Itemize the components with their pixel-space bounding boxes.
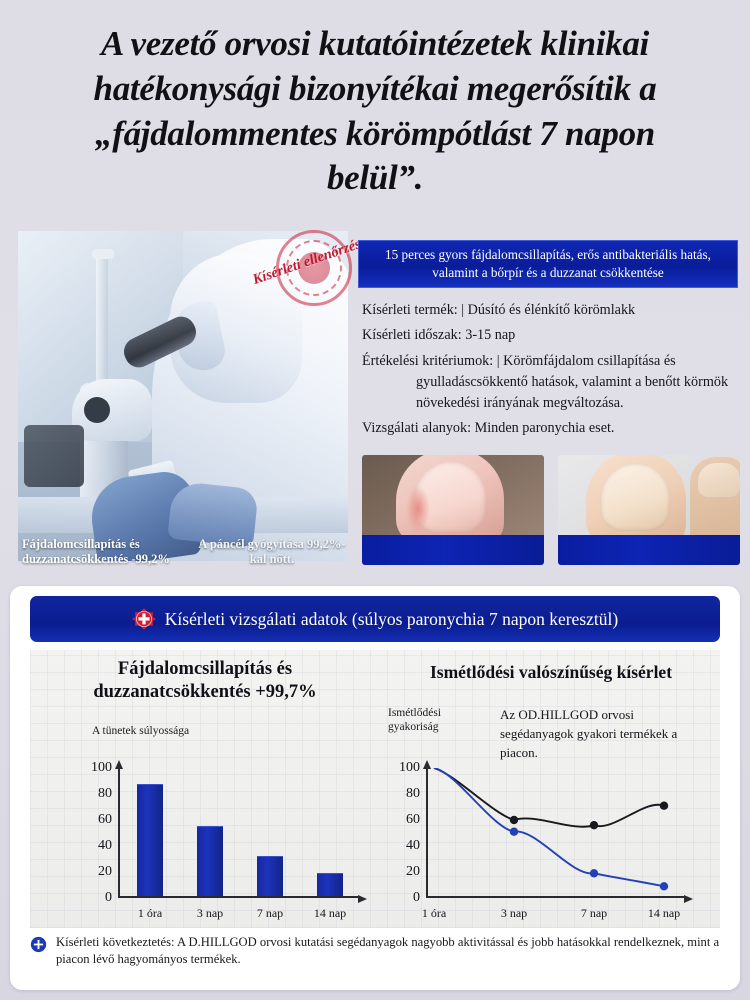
claim-banner: 15 perces gyors fájdalomcsillapítás, erő… — [358, 240, 738, 288]
y-tick-label: 40 — [406, 838, 420, 854]
experiment-spec-list: Kísérleti termék: | Dúsító és élénkítő k… — [362, 300, 742, 444]
series-data-point — [660, 882, 668, 890]
nail-photo-after-image — [558, 455, 740, 535]
y-tick-label: 80 — [98, 786, 112, 802]
chart-pain-reduction: Fájdalomcsillapítás és duzzanatcsökkenté… — [30, 650, 380, 928]
spec-period-label: Kísérleti időszak: — [362, 327, 462, 343]
series-data-point — [510, 828, 518, 836]
verification-stamp: Kísérleti ellenőrzés — [250, 228, 358, 310]
chart-right-y-axis-label: Ismétlődési gyakoriság — [388, 706, 480, 735]
x-axis-arrow-icon — [684, 895, 693, 903]
nail-photo-before — [362, 455, 544, 565]
experiment-data-card: Kísérleti vizsgálati adatok (súlyos paro… — [10, 586, 740, 990]
series-data-point — [590, 821, 598, 829]
nail-photo-after-bar — [558, 535, 740, 565]
y-tick-label: 60 — [98, 812, 112, 828]
y-tick-label: 20 — [98, 864, 112, 880]
nail-photo-after — [558, 455, 740, 565]
photo-caption-left: Fájdalomcsillapítás és duzzanatcsökkenté… — [22, 537, 172, 568]
bar — [317, 873, 343, 896]
spec-subjects-label: Vizsgálati alanyok: — [362, 420, 471, 436]
chart-left-y-axis-label: A tünetek súlyossága — [92, 724, 197, 738]
charts-area: Fájdalomcsillapítás és duzzanatcsökkenté… — [30, 650, 720, 928]
series-data-point — [510, 816, 518, 824]
y-tick-label: 0 — [413, 890, 420, 906]
spec-product-value: Dúsító és élénkítő körömlakk — [468, 302, 635, 318]
medical-cross-icon — [132, 607, 156, 631]
chart-left-title: Fájdalomcsillapítás és duzzanatcsökkenté… — [40, 658, 370, 704]
spec-product: Kísérleti termék: | Dúsító és élénkítő k… — [362, 300, 742, 321]
y-tick-label: 40 — [98, 838, 112, 854]
chart-recurrence-probability: Ismétlődési valószínűség kísérlet Ismétl… — [382, 650, 720, 928]
nail-photo-before-image — [362, 455, 544, 535]
x-tick-label: 14 nap — [648, 906, 680, 921]
nail-plate-shape-secondary — [698, 463, 740, 497]
data-section-title: Kísérleti vizsgálati adatok (súlyos paro… — [165, 609, 618, 630]
y-axis-arrow-icon — [115, 760, 123, 769]
inflammation-highlight — [406, 485, 430, 533]
chart-right-plot: 1008060402001 óra3 nap7 nap14 nap — [426, 768, 684, 898]
chart-left-y-axis — [118, 768, 120, 898]
chart-left-x-axis — [118, 896, 358, 898]
chart-right-series-lines — [426, 768, 684, 898]
spec-criteria-continuation: gyulladáscsökkentő hatások, valamint a b… — [362, 372, 742, 415]
bar — [197, 826, 223, 896]
claim-banner-text: 15 perces gyors fájdalomcsillapítás, erő… — [371, 246, 725, 281]
y-tick-label: 80 — [406, 786, 420, 802]
y-tick-label: 100 — [91, 760, 112, 776]
chart-right-annotation: Az OD.HILLGOD orvosi segédanyagok gyakor… — [500, 706, 680, 763]
infographic-page: A vezető orvosi kutatóintézetek klinikai… — [0, 0, 750, 1000]
x-axis-arrow-icon — [358, 895, 367, 903]
series-line — [434, 768, 664, 827]
spec-subjects-value: Minden paronychia eset. — [475, 420, 615, 436]
conclusion-row: Kísérleti következtetés: A D.HILLGOD orv… — [30, 934, 730, 968]
plus-circle-icon — [30, 936, 47, 953]
chart-left-plot: 1008060402001 óra3 nap7 nap14 nap — [118, 768, 358, 898]
page-title: A vezető orvosi kutatóintézetek klinikai… — [55, 22, 695, 201]
series-line — [434, 768, 664, 886]
y-tick-label: 0 — [105, 890, 112, 906]
x-tick-label: 3 nap — [501, 906, 527, 921]
nail-plate-shape — [600, 463, 670, 531]
bar — [137, 784, 163, 896]
bar — [257, 856, 283, 896]
series-data-point — [660, 802, 668, 810]
nail-photo-before-bar — [362, 535, 544, 565]
spec-period: Kísérleti időszak: 3-15 nap — [362, 325, 742, 346]
y-tick-label: 60 — [406, 812, 420, 828]
spec-criteria-label: Értékelési kritériumok: | — [362, 353, 500, 369]
conclusion-text: Kísérleti következtetés: A D.HILLGOD orv… — [56, 934, 730, 968]
x-tick-label: 7 nap — [257, 906, 283, 921]
series-data-point — [590, 869, 598, 877]
x-tick-label: 14 nap — [314, 906, 346, 921]
spec-product-label: Kísérleti termék: | — [362, 302, 464, 318]
photo-caption-right: A páncél gyógyítása 99,2%-kal nőtt. — [192, 537, 352, 568]
x-tick-label: 7 nap — [581, 906, 607, 921]
spec-period-value: 3-15 nap — [465, 327, 515, 343]
spec-criteria-value: Körömfájdalom csillapítása és — [503, 353, 676, 369]
data-section-header: Kísérleti vizsgálati adatok (súlyos paro… — [30, 596, 720, 642]
y-tick-label: 20 — [406, 864, 420, 880]
spec-criteria: Értékelési kritériumok: | Körömfájdalom … — [362, 351, 742, 415]
spec-subjects: Vizsgálati alanyok: Minden paronychia es… — [362, 418, 742, 439]
y-tick-label: 100 — [399, 760, 420, 776]
chart-right-title: Ismétlődési valószínűség kísérlet — [392, 662, 710, 684]
x-tick-label: 1 óra — [422, 906, 446, 921]
x-tick-label: 3 nap — [197, 906, 223, 921]
x-tick-label: 1 óra — [138, 906, 162, 921]
